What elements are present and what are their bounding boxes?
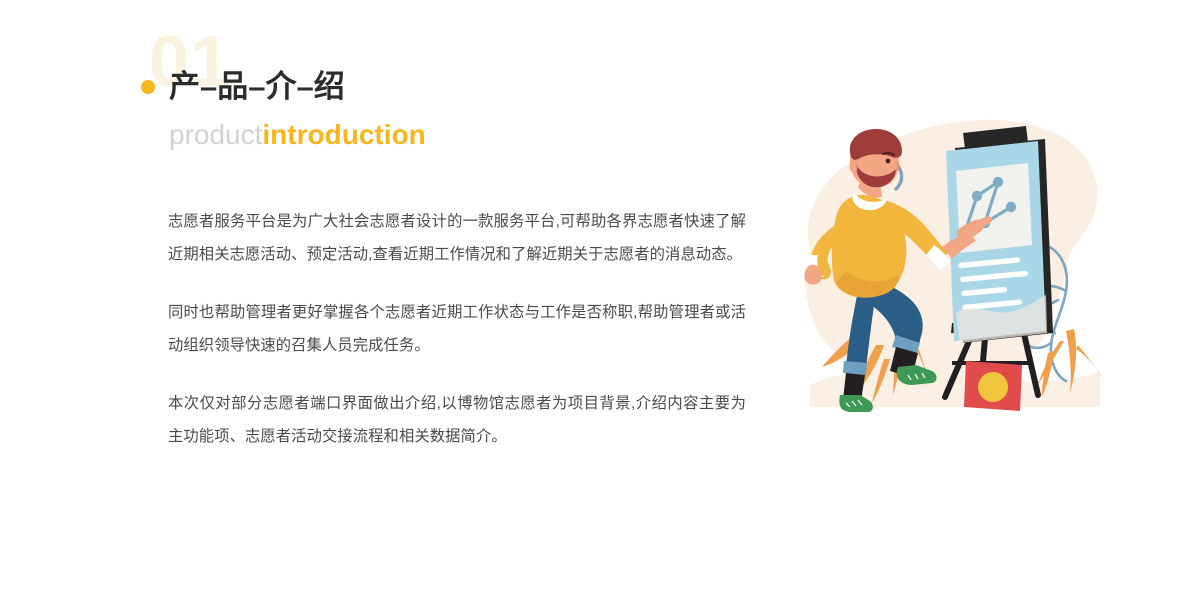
paragraph-2: 同时也帮助管理者更好掌握各个志愿者近期工作状态与工作是否称职,帮助管理者或活动组… [168, 297, 746, 362]
body-copy: 志愿者服务平台是为广大社会志愿者设计的一款服务平台,可帮助各界志愿者快速了解近期… [168, 206, 746, 453]
illustration-svg [770, 95, 1190, 465]
slide-root: 01 产–品–介–绍 productintroduction 志愿者服务平台是为… [0, 0, 1197, 600]
paragraph-1: 志愿者服务平台是为广大社会志愿者设计的一款服务平台,可帮助各界志愿者快速了解近期… [168, 206, 746, 271]
illustration-man-presenting-at-flipchart [770, 95, 1190, 465]
paragraph-3: 本次仅对部分志愿者端口界面做出介绍,以博物馆志愿者为项目背景,介绍内容主要为主功… [168, 388, 746, 453]
subtitle-light-part: product [169, 119, 262, 150]
subtitle-accent-part: introduction [262, 119, 425, 150]
page-title: 产–品–介–绍 [169, 66, 345, 108]
page-subtitle: productintroduction [169, 116, 426, 154]
slide-header: 01 产–品–介–绍 productintroduction [141, 26, 701, 166]
bullet-dot-icon [141, 80, 155, 94]
red-bag [964, 361, 1022, 411]
